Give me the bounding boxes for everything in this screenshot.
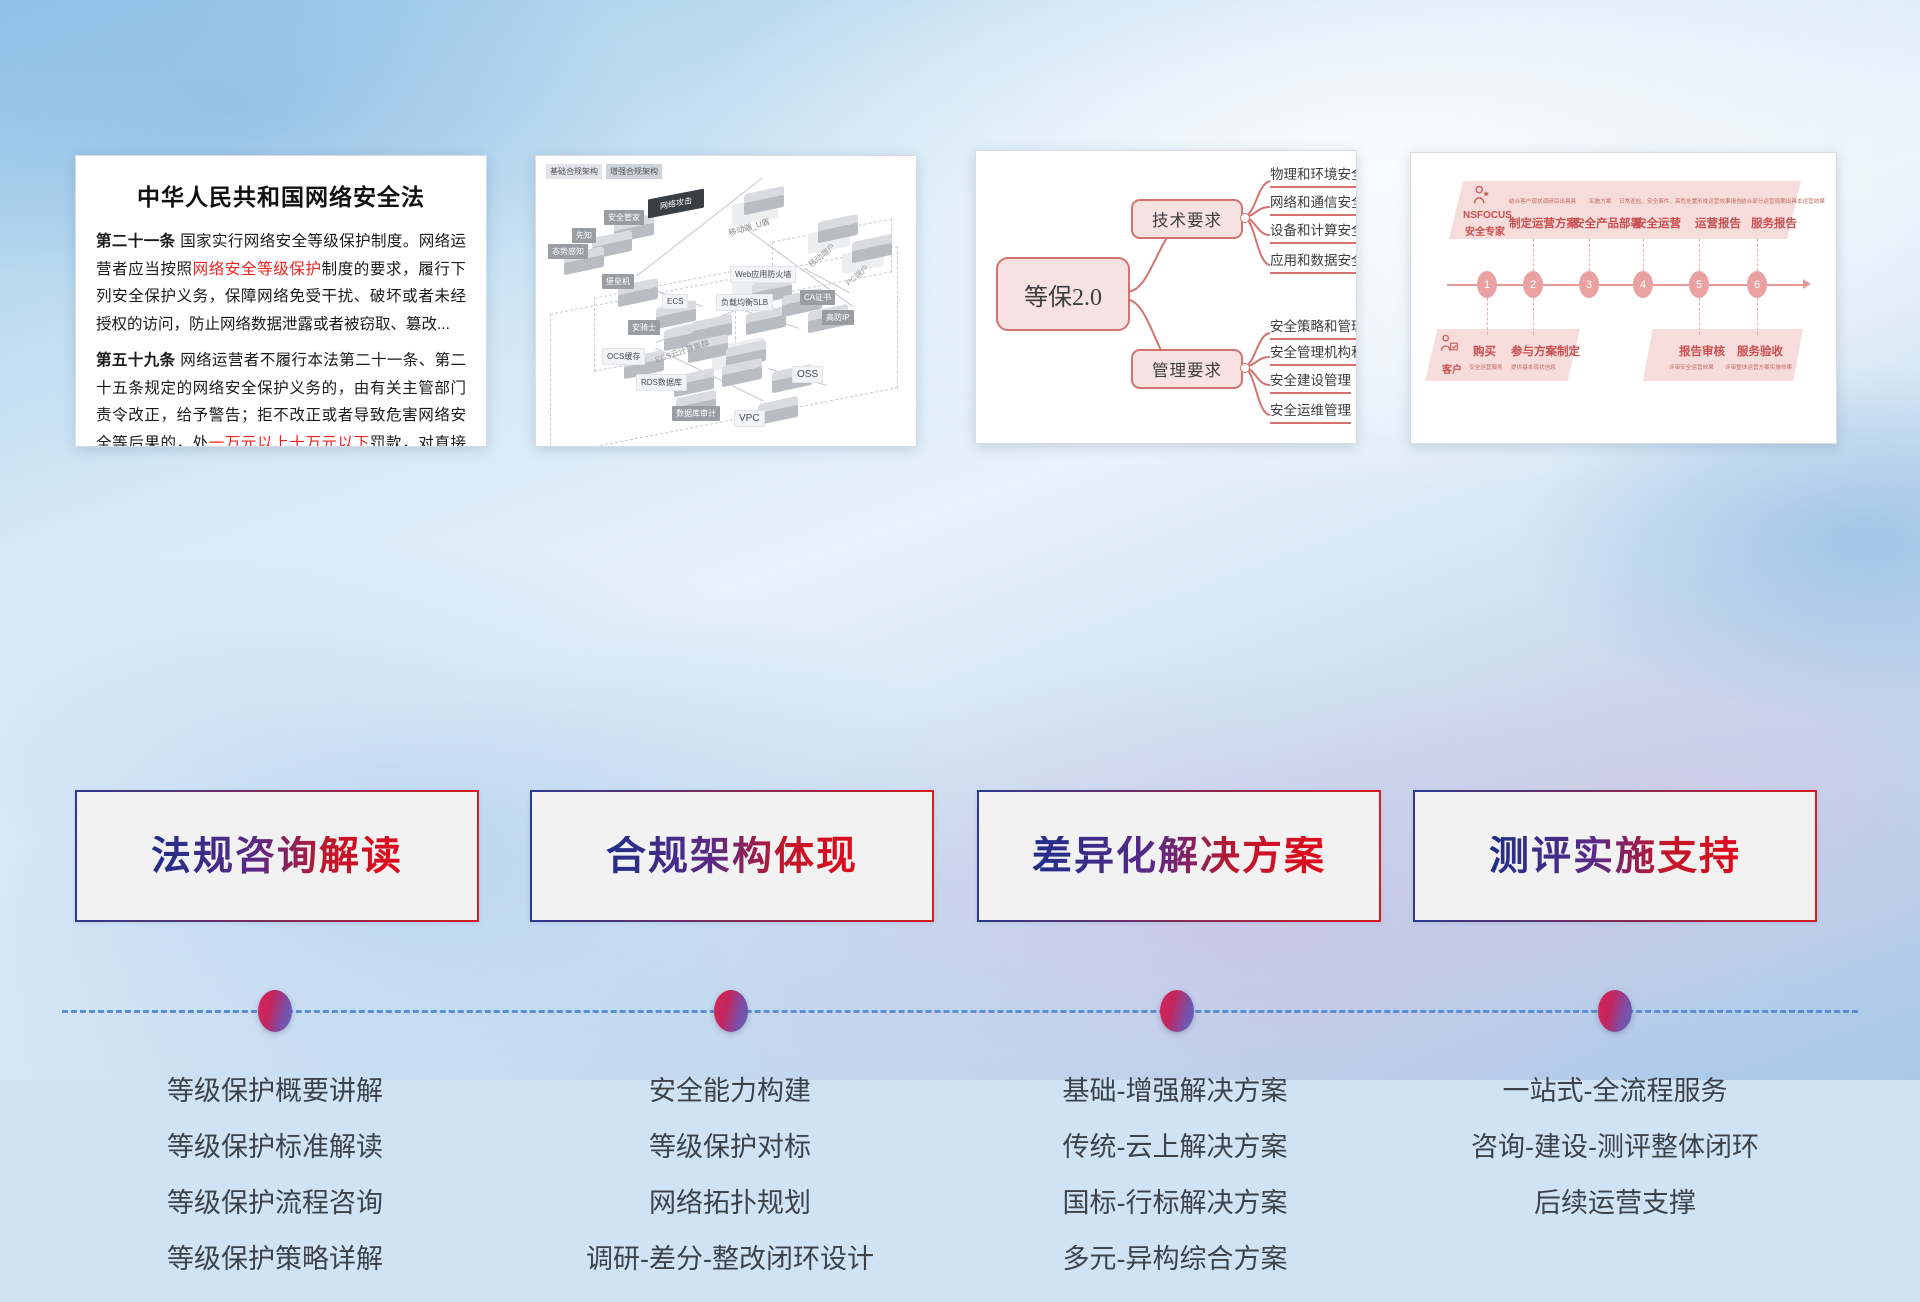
pillar-title-box-1[interactable]: 法规咨询解读: [75, 790, 479, 922]
pillar-items-1: 等级保护概要讲解 等级保护标准解读 等级保护流程咨询 等级保护策略详解: [65, 1078, 485, 1302]
article-21-highlight: 网络安全等级保护: [193, 261, 322, 278]
list-item: 等级保护概要讲解: [65, 1078, 485, 1105]
process-dash-3: [1533, 293, 1535, 335]
process-timeline-card: NSFOCUS 安全专家 客户 结合客户现状调研后出具具 制定运营方案 实施方案…: [1410, 152, 1837, 444]
pillar-title-3: 差异化解决方案: [1032, 836, 1326, 876]
mindmap-card: 等保2.0 技术要求 物理和环境安全 网络和通信安全 设备和计算安全 应用和数据…: [975, 150, 1357, 444]
process-top-sub-4: 形成运营效果报告: [1697, 197, 1742, 205]
process-customer-label: 客户: [1442, 361, 1462, 376]
server-icon-mobile-ukey: [744, 190, 784, 216]
node-label-db-audit: 数据库审计: [672, 406, 720, 421]
process-dash-7: [1699, 293, 1701, 335]
article-21-label: 第二十一条: [96, 233, 176, 250]
architecture-canvas: 基础合规架构 增强合规架构: [536, 156, 916, 446]
mindmap-root-node: 等保2.0: [996, 257, 1130, 331]
mindmap-leaf-app-data: 应用和数据安全: [1270, 249, 1357, 274]
timeline-dot-3[interactable]: [1160, 990, 1194, 1032]
mindmap-leaf-org-personnel: 安全管理机构和人员: [1270, 341, 1357, 366]
list-item: 传统-云上解决方案: [965, 1134, 1385, 1161]
list-item: 基础-增强解决方案: [965, 1078, 1385, 1105]
mindmap-branch-management: 管理要求: [1131, 349, 1243, 389]
list-item: 国标-行标解决方案: [965, 1190, 1385, 1217]
customer-person-icon: [1439, 333, 1459, 355]
pillar-title-box-4[interactable]: 测评实施支持: [1413, 790, 1817, 922]
timeline-dot-2[interactable]: [714, 990, 748, 1032]
pillar-items-3: 基础-增强解决方案 传统-云上解决方案 国标-行标解决方案 多元-异构综合方案: [965, 1078, 1385, 1302]
node-label-rds: RDS数据库: [636, 374, 687, 391]
process-top-sub-1: 结合客户现状调研后出具具: [1509, 197, 1576, 205]
node-label-security-butler: 安全管家: [604, 210, 644, 225]
server-icon-node-d: [722, 362, 762, 388]
law-article-59: 第五十九条 网络运营者不履行本法第二十一条、第二十五条规定的网络安全保护义务的，…: [96, 347, 466, 447]
process-axis-arrow-icon: [1803, 279, 1811, 289]
process-top-sub-2: 实施方案: [1589, 197, 1611, 205]
process-bottom-title-2: 参与方案制定: [1511, 343, 1580, 359]
mindmap-leaf-device-compute: 设备和计算安全: [1270, 219, 1357, 244]
node-label-xianzhi: 先知: [572, 228, 596, 243]
node-label-anti-ddos-ip: 高防IP: [822, 310, 854, 325]
pillar-items-4: 一站式-全流程服务 咨询-建设-测评整体闭环 后续运营支撑: [1405, 1078, 1825, 1246]
process-step-node-1: 1: [1477, 271, 1497, 298]
node-label-situation-awareness: 态势感知: [548, 244, 588, 259]
timeline-dashed-rail: [62, 1010, 1858, 1013]
process-step-node-3: 3: [1579, 271, 1599, 298]
list-item: 调研-差分-整改闭环设计: [520, 1246, 940, 1273]
mindmap-leaf-ops-mgmt: 安全运维管理: [1270, 399, 1351, 424]
article-59-highlight-1: 一万元以上十万元以下: [209, 435, 370, 447]
node-label-network-attack: 网络攻击: [648, 189, 704, 219]
pillar-title-4: 测评实施支持: [1489, 836, 1741, 876]
architecture-tabs: 基础合规架构 增强合规架构: [546, 164, 662, 179]
process-step-node-5: 5: [1689, 271, 1709, 298]
process-bottom-title-3: 报告审核: [1679, 343, 1725, 359]
node-label-vpc: VPC: [734, 410, 765, 427]
timeline-dot-1[interactable]: [258, 990, 292, 1032]
pillar-items-2: 安全能力构建 等级保护对标 网络拓扑规划 调研-差分-整改闭环设计: [520, 1078, 940, 1302]
list-item: 安全能力构建: [520, 1078, 940, 1105]
process-top-title-3: 安全运营: [1635, 215, 1681, 231]
node-label-ocs-cache: OCS缓存: [602, 348, 645, 365]
process-top-title-4: 运营报告: [1695, 215, 1741, 231]
list-item: 等级保护流程咨询: [65, 1190, 485, 1217]
process-step-node-6: 6: [1747, 271, 1767, 298]
architecture-diagram-card: 基础合规架构 增强合规架构: [535, 155, 917, 447]
mindmap-branch-technical: 技术要求: [1131, 199, 1243, 239]
process-bottom-sub-2: 提供基本现状信息: [1511, 363, 1556, 371]
list-item: 后续运营支撑: [1405, 1190, 1825, 1217]
list-item: 咨询-建设-测评整体闭环: [1405, 1134, 1825, 1161]
process-bottom-title-4: 服务验收: [1737, 343, 1783, 359]
process-top-title-2: 安全产品部署: [1573, 215, 1642, 231]
process-step-node-4: 4: [1633, 271, 1653, 298]
process-expert-label-line2: 安全专家: [1465, 223, 1505, 238]
node-label-ca-cert: CA证书: [800, 290, 835, 305]
process-top-sub-3: 日常巡检、安全事件、高危处置: [1619, 197, 1697, 205]
list-item: 一站式-全流程服务: [1405, 1078, 1825, 1105]
article-59-label: 第五十九条: [96, 352, 176, 369]
list-item: 等级保护对标: [520, 1134, 940, 1161]
tab-enhanced-architecture[interactable]: 增强合规架构: [606, 164, 662, 179]
mindmap-dot-technical: [1240, 213, 1250, 223]
list-item: 等级保护标准解读: [65, 1134, 485, 1161]
law-text-card: 中华人民共和国网络安全法 第二十一条 国家实行网络安全等级保护制度。网络运营者应…: [75, 155, 487, 447]
process-bottom-sub-1: 安全运营服务: [1469, 363, 1503, 371]
server-icon-slb: [746, 310, 786, 336]
process-step-node-2: 2: [1523, 271, 1543, 298]
expert-person-icon: [1471, 185, 1493, 207]
pillar-title-box-3[interactable]: 差异化解决方案: [977, 790, 1381, 922]
server-icon-pc-user: [852, 238, 892, 264]
list-item: 等级保护策略详解: [65, 1246, 485, 1273]
mindmap-leaf-construction-mgmt: 安全建设管理: [1270, 369, 1351, 394]
mindmap-leaf-policy-system: 安全策略和管理制度: [1270, 315, 1357, 340]
tab-basic-architecture[interactable]: 基础合规架构: [546, 164, 602, 179]
pillar-title-box-2[interactable]: 合规架构体现: [530, 790, 934, 922]
process-bottom-title-1: 购买: [1473, 343, 1496, 359]
pillar-title-1: 法规咨询解读: [151, 836, 403, 876]
node-label-bastion-host: 堡垒机: [602, 274, 634, 289]
mindmap-leaf-physical-env: 物理和环境安全: [1270, 163, 1357, 188]
list-item: 多元-异构综合方案: [965, 1246, 1385, 1273]
mindmap-dot-management: [1240, 363, 1250, 373]
node-label-ecs: ECS: [662, 294, 688, 309]
pillar-title-2: 合规架构体现: [606, 836, 858, 876]
process-top-title-5: 服务报告: [1751, 215, 1797, 231]
process-bottom-sub-3: 评审安全运营效果: [1669, 363, 1714, 371]
process-top-title-1: 制定运营方案: [1509, 215, 1578, 231]
timeline-dot-4[interactable]: [1598, 990, 1632, 1032]
node-label-oss: OSS: [792, 366, 823, 383]
process-dash-9: [1757, 293, 1759, 335]
process-bottom-sub-4: 评审整体运营方案实施效果: [1725, 363, 1792, 371]
node-label-waf: Web应用防火墙: [730, 266, 796, 283]
law-article-21: 第二十一条 国家实行网络安全等级保护制度。网络运营者应当按照网络安全等级保护制度…: [96, 228, 466, 338]
mindmap-leaf-network-comm: 网络和通信安全: [1270, 191, 1357, 216]
node-label-slb: 负载均衡SLB: [716, 294, 773, 311]
process-dash-1: [1487, 293, 1489, 335]
process-expert-label-line1: NSFOCUS: [1463, 210, 1512, 221]
law-card-title: 中华人民共和国网络安全法: [96, 178, 466, 212]
node-label-agent: 安骑士: [628, 320, 660, 335]
process-top-sub-5: 结合部分运营周期出具本运营效果: [1741, 197, 1825, 205]
list-item: 网络拓扑规划: [520, 1190, 940, 1217]
